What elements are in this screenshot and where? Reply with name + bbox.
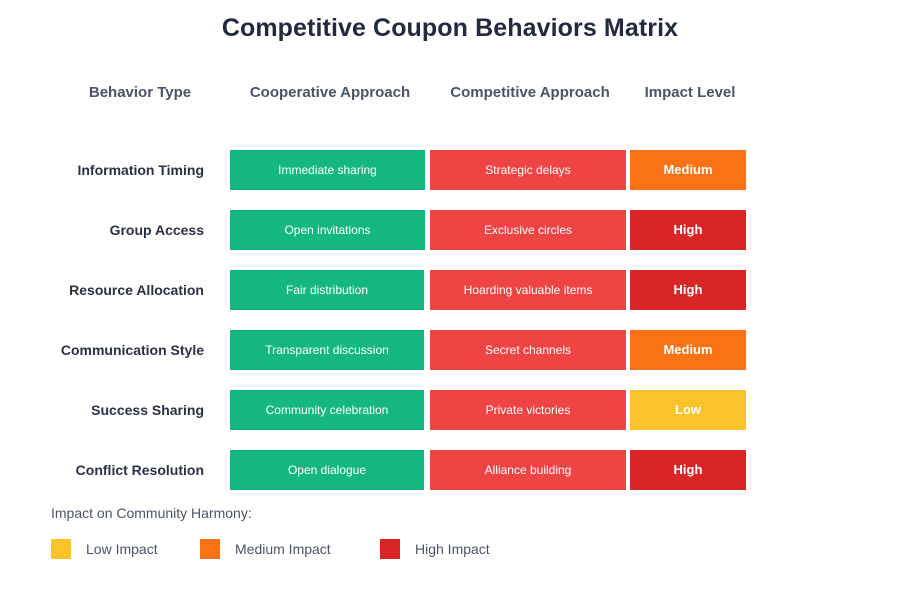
cell-cooperative-approach[interactable]: Community celebration: [230, 390, 424, 430]
cell-impact-level[interactable]: Medium: [630, 150, 746, 190]
legend-title: Impact on Community Harmony:: [51, 505, 851, 521]
legend-item: High Impact: [380, 537, 490, 561]
cell-competitive-approach[interactable]: Private victories: [430, 390, 626, 430]
cell-cooperative-approach[interactable]: Immediate sharing: [230, 150, 425, 190]
page-title: Competitive Coupon Behaviors Matrix: [0, 14, 900, 43]
legend-item: Medium Impact: [200, 537, 331, 561]
row-label-behavior-type: Conflict Resolution: [24, 450, 204, 490]
table-row: Success SharingCommunity celebrationPriv…: [0, 390, 900, 430]
legend: Impact on Community Harmony: Low ImpactM…: [51, 505, 851, 561]
cell-impact-level[interactable]: High: [630, 450, 746, 490]
cell-cooperative-approach[interactable]: Fair distribution: [230, 270, 424, 310]
column-header-competitive-approach: Competitive Approach: [430, 84, 630, 101]
cell-competitive-approach[interactable]: Secret channels: [430, 330, 626, 370]
table-row: Conflict ResolutionOpen dialogueAlliance…: [0, 450, 900, 490]
cell-competitive-approach[interactable]: Strategic delays: [430, 150, 626, 190]
cell-impact-level[interactable]: High: [630, 270, 746, 310]
table-row: Information TimingImmediate sharingStrat…: [0, 150, 900, 190]
cell-impact-level[interactable]: Medium: [630, 330, 746, 370]
row-label-behavior-type: Group Access: [24, 210, 204, 250]
column-header-impact-level: Impact Level: [630, 84, 750, 101]
legend-item-label: Medium Impact: [235, 541, 331, 557]
legend-item: Low Impact: [51, 537, 158, 561]
cell-impact-level[interactable]: High: [630, 210, 746, 250]
legend-swatch-icon: [380, 539, 400, 559]
table-row: Group AccessOpen invitationsExclusive ci…: [0, 210, 900, 250]
row-label-behavior-type: Resource Allocation: [24, 270, 204, 310]
cell-cooperative-approach[interactable]: Transparent discussion: [230, 330, 424, 370]
legend-swatch-icon: [51, 539, 71, 559]
legend-item-label: Low Impact: [86, 541, 158, 557]
cell-competitive-approach[interactable]: Hoarding valuable items: [430, 270, 626, 310]
column-header-behavior-type: Behavior Type: [55, 84, 225, 101]
cell-cooperative-approach[interactable]: Open invitations: [230, 210, 425, 250]
table-row: Communication StyleTransparent discussio…: [0, 330, 900, 370]
matrix-chart: Competitive Coupon Behaviors Matrix Beha…: [0, 0, 900, 600]
legend-items: Low ImpactMedium ImpactHigh Impact: [51, 537, 851, 561]
row-label-behavior-type: Information Timing: [24, 150, 204, 190]
legend-item-label: High Impact: [415, 541, 490, 557]
column-header-cooperative-approach: Cooperative Approach: [230, 84, 430, 101]
cell-competitive-approach[interactable]: Exclusive circles: [430, 210, 626, 250]
table-row: Resource AllocationFair distributionHoar…: [0, 270, 900, 310]
column-headers: Behavior Type Cooperative Approach Compe…: [0, 84, 900, 106]
cell-competitive-approach[interactable]: Alliance building: [430, 450, 626, 490]
row-label-behavior-type: Communication Style: [24, 330, 204, 370]
row-label-behavior-type: Success Sharing: [24, 390, 204, 430]
legend-swatch-icon: [200, 539, 220, 559]
cell-impact-level[interactable]: Low: [630, 390, 746, 430]
cell-cooperative-approach[interactable]: Open dialogue: [230, 450, 424, 490]
